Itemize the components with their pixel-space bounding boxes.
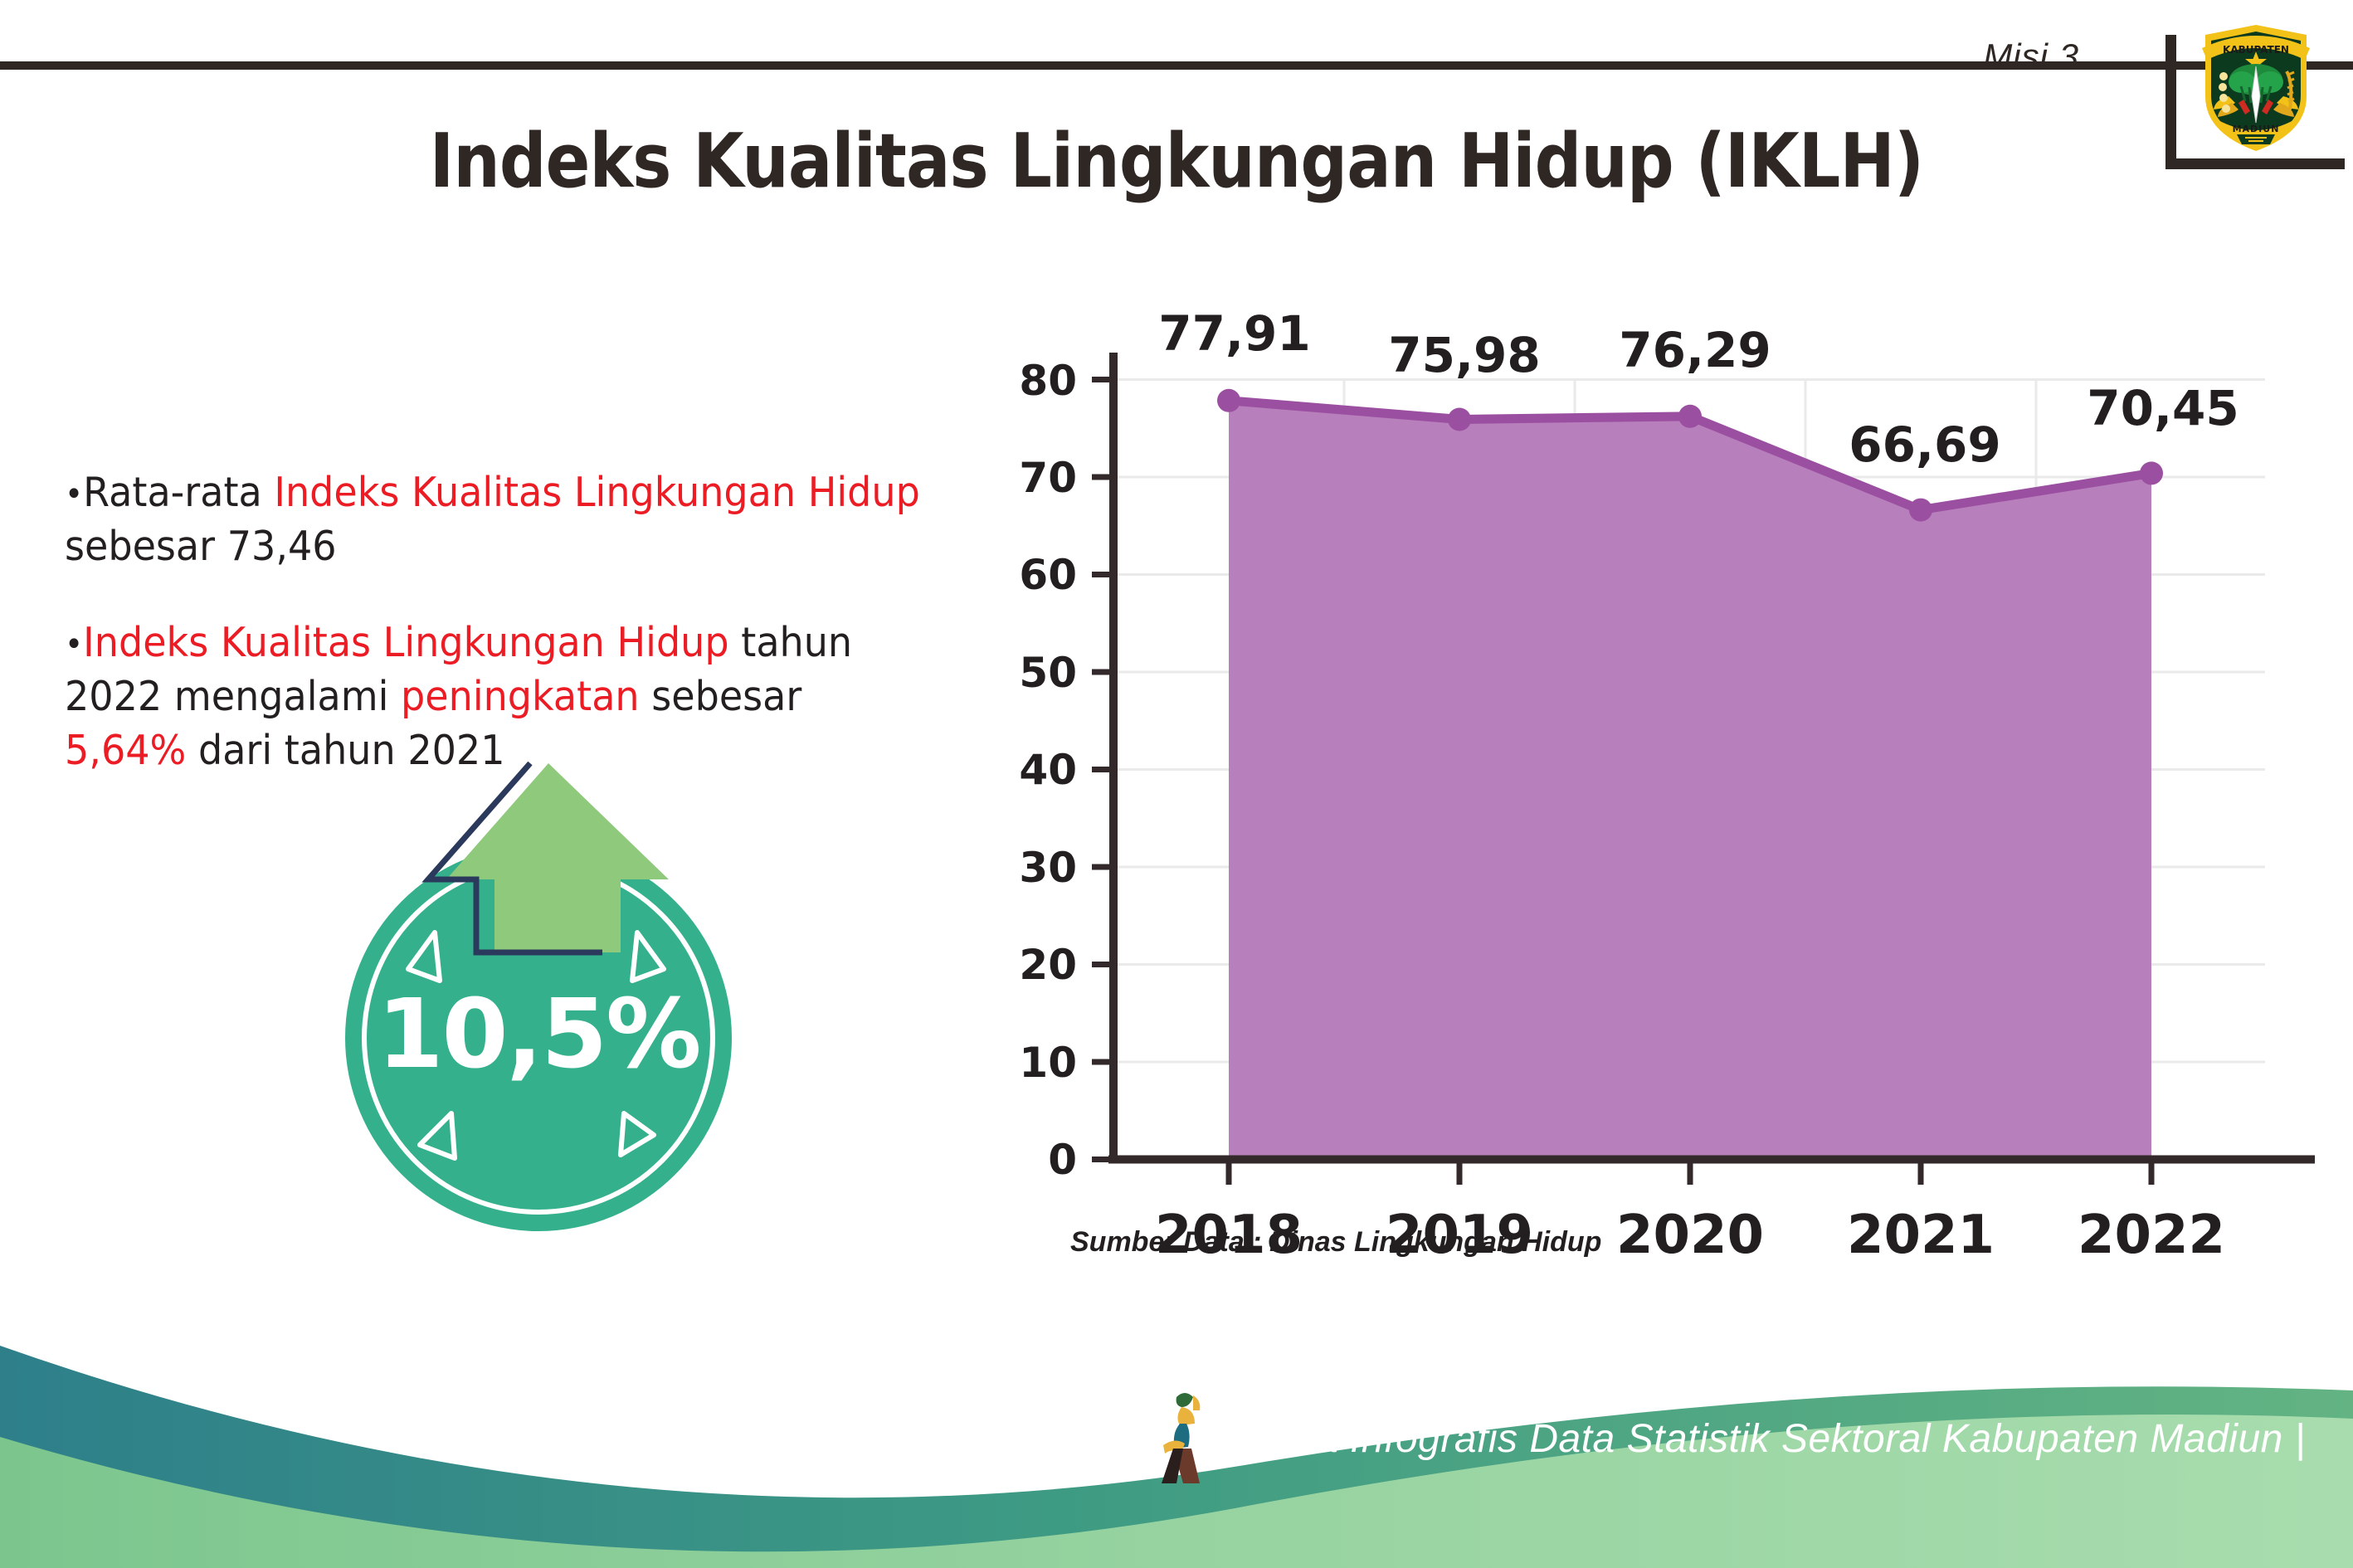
badge-value: 10,5%	[345, 979, 732, 1090]
y-tick-label: 40	[1019, 746, 1077, 794]
data-label: 76,29	[1619, 322, 1771, 378]
bullet-1-highlight-1: Indeks Kualitas Lingkungan Hidup	[83, 619, 728, 666]
y-tick-label: 0	[1048, 1136, 1077, 1184]
svg-text:MADIUN: MADIUN	[2233, 124, 2280, 134]
y-tick-label: 20	[1019, 941, 1077, 989]
kabupaten-madiun-emblem-icon: KABUPATEN MADIUN	[2195, 17, 2316, 156]
bullet-1-seg4: sebesar	[640, 673, 802, 720]
iklh-area-chart: 0 10 20 30 40 50 60 70 80 2018 2019 2020…	[954, 274, 2323, 1319]
list-item: •Indeks Kualitas Lingkungan Hidup tahun …	[65, 616, 930, 777]
page-title: Indeks Kualitas Lingkungan Hidup (IKLH)	[141, 118, 2212, 205]
chart-y-tick-labels: 0 10 20 30 40 50 60 70 80	[1019, 357, 1077, 1184]
y-tick-label: 60	[1019, 551, 1077, 599]
bullet-marker: •	[65, 626, 83, 664]
x-tick-label: 2021	[1847, 1205, 1995, 1266]
y-tick-label: 50	[1019, 649, 1077, 697]
misi-label: Misi 3	[1983, 37, 2079, 76]
y-tick-label: 70	[1019, 454, 1077, 502]
bullet-0-seg3: sebesar 73,46	[65, 523, 337, 570]
x-tick-label: 2020	[1616, 1205, 1764, 1266]
data-label: 66,69	[1849, 416, 2000, 473]
x-tick-label: 2022	[2078, 1205, 2225, 1266]
bullet-marker: •	[65, 475, 83, 514]
bullet-0-seg1: Rata-rata	[83, 469, 274, 516]
increase-badge: 10,5%	[329, 755, 768, 1220]
bullet-0-highlight: Indeks Kualitas Lingkungan Hidup	[274, 469, 919, 516]
data-label: 70,45	[2087, 380, 2239, 436]
bullet-1-highlight-2: peningkatan	[401, 673, 640, 720]
list-item: •Rata-rata Indeks Kualitas Lingkungan Hi…	[65, 466, 930, 573]
y-tick-label: 30	[1019, 844, 1077, 892]
bullet-1-highlight-3: 5,64%	[65, 727, 186, 774]
source-note: Sumber Data : Dinas Lingkungan Hidup	[1070, 1226, 1601, 1259]
statistics-person-icon	[1152, 1385, 1228, 1487]
chart-area-fill	[1229, 401, 2151, 1160]
slide-canvas: Misi 3 KABUPATEN MADI	[0, 0, 2353, 1568]
data-label: 77,91	[1158, 305, 1310, 362]
y-tick-label: 80	[1019, 357, 1077, 405]
y-tick-label: 10	[1019, 1039, 1077, 1087]
footer-caption: Media Infografis Data Statistik Sektoral…	[1228, 1416, 2306, 1462]
data-label: 75,98	[1388, 327, 1540, 383]
